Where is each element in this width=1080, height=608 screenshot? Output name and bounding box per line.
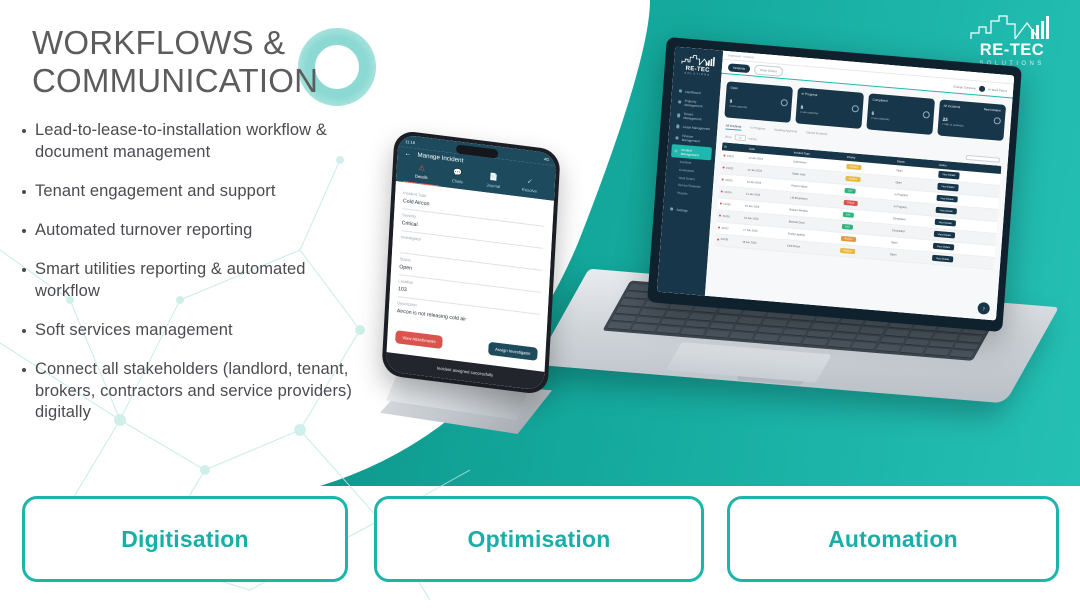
stat-card-title: Open <box>730 86 788 95</box>
search-input[interactable] <box>966 155 1000 163</box>
list-item-label: Lead-to-lease-to-installation workflow &… <box>35 120 367 164</box>
assign-investigator-button[interactable]: Assign Investigator <box>488 341 538 360</box>
dashboard-app: RE-TEC SOLUTIONS Dashboard Property Mana… <box>657 47 1014 321</box>
bullet-dot-icon <box>22 329 26 333</box>
stat-card-title: In Progress <box>801 92 859 101</box>
stat-card-title: Completed <box>872 98 930 107</box>
cell-date: 14 Jan 2023 <box>744 190 789 202</box>
cell-date: 15 Jan 2023 <box>743 202 788 214</box>
support-headset-icon[interactable] <box>979 85 985 92</box>
back-arrow-icon[interactable]: ← <box>404 150 411 158</box>
list-item: Soft services management <box>22 320 367 342</box>
phone-form: Incident Type Cold Aircon Severity Criti… <box>388 181 553 337</box>
status-badge: Low <box>844 188 856 194</box>
cell-status: Completed <box>890 214 932 225</box>
skyline-bar-chart-icon <box>969 14 1055 40</box>
cell-date: 12 Jan 2023 <box>746 154 791 166</box>
view-details-button[interactable]: View Details <box>934 219 956 227</box>
dashboard-logo: RE-TEC SOLUTIONS <box>677 53 719 77</box>
sidebar-item-label: Settings <box>676 207 687 212</box>
status-badge: Medium <box>846 164 862 171</box>
help-fab-button[interactable]: ? <box>977 302 990 315</box>
tab-label: Chats <box>452 178 463 184</box>
status-time: 11:18 <box>405 139 415 145</box>
cell-status: In Progress <box>892 190 934 201</box>
sidebar-item-label: Finance Management <box>682 134 710 144</box>
page-title: WORKFLOWS & COMMUNICATION <box>32 24 362 101</box>
users-icon <box>677 114 681 118</box>
view-details-button[interactable]: View Details <box>936 195 958 203</box>
change-company-link[interactable]: Change Company <box>953 84 976 90</box>
sidebar-item-label: Property Management <box>684 99 712 109</box>
tab-in-progress[interactable]: In Progress <box>750 126 765 133</box>
tab-closed-incidents[interactable]: Closed Incidents <box>806 130 828 138</box>
tab-awaiting-approval[interactable]: Awaiting Approval <box>774 128 797 136</box>
incidents-table: ID Date Incident Type Priority Status Ac… <box>715 142 1002 269</box>
tab-work-orders[interactable]: Work Orders <box>754 64 784 76</box>
cell-date: 16 Jan 2023 <box>742 214 787 226</box>
tab-label: Journal <box>486 182 500 189</box>
tab-label: Resolve <box>522 186 537 193</box>
cell-id: #1027 <box>721 226 728 230</box>
list-item: Tenant engagement and support <box>22 181 367 203</box>
status-badge: Medium <box>845 176 861 183</box>
laptop-mockup: RE-TEC SOLUTIONS Dashboard Property Mana… <box>537 52 1037 442</box>
status-badge: Medium <box>841 235 857 242</box>
show-label: Show <box>725 135 732 139</box>
cell-status: Open <box>888 250 930 261</box>
cell-status: Open <box>893 178 935 189</box>
bullet-dot-icon <box>22 368 26 372</box>
cell-id: #1022 <box>726 166 733 170</box>
grid-icon <box>679 89 683 93</box>
pill-label: Optimisation <box>468 526 611 553</box>
list-item: Automated turnover reporting <box>22 220 367 242</box>
cell-date: 18 Jan 2023 <box>740 238 785 250</box>
breadcrumb: Dashboard / Incidents <box>728 54 754 59</box>
pill-optimisation[interactable]: Optimisation <box>374 496 704 582</box>
status-badge: Low <box>841 223 853 229</box>
phone-device: 11:18 4G ← Manage Incident ⚠ Details <box>381 130 560 396</box>
stat-card-in-progress[interactable]: In Progress 8 2 new yesterday <box>795 87 864 129</box>
list-item-label: Smart utilities reporting & automated wo… <box>35 259 367 303</box>
list-item-label: Connect all stakeholders (landlord, tena… <box>35 359 367 425</box>
status-indicators: 4G <box>544 156 550 162</box>
cell-type: Cold Aircon <box>785 242 839 254</box>
sidebar-item-label: Incident Management <box>681 147 709 157</box>
dashboard-main: Dashboard / Incidents Incidents Work Ord… <box>705 51 1014 321</box>
cell-status: Open <box>889 238 931 249</box>
bullet-dot-icon <box>22 229 26 233</box>
cell-status: Completed <box>890 226 932 237</box>
bullet-dot-icon <box>22 268 26 272</box>
cell-id: #1021 <box>727 154 734 158</box>
tab-incidents[interactable]: Incidents <box>728 63 751 73</box>
sidebar-item-label: Tenant Management <box>683 112 711 122</box>
view-details-button[interactable]: View Details <box>934 231 956 239</box>
view-attachments-button[interactable]: View Attachments <box>395 330 443 349</box>
list-item-label: Automated turnover reporting <box>35 220 252 242</box>
view-details-button[interactable]: View Details <box>932 255 954 263</box>
stat-card-open[interactable]: Open 9 3 new yesterday <box>724 81 793 123</box>
list-item-label: Tenant engagement and support <box>35 181 276 203</box>
laptop-lid: RE-TEC SOLUTIONS Dashboard Property Mana… <box>647 37 1022 332</box>
cell-id: #1028 <box>721 238 728 242</box>
cell-id: #1025 <box>723 202 730 206</box>
document-icon <box>676 125 680 129</box>
status-badge: Critical <box>843 200 857 207</box>
phone-mockup: 11:18 4G ← Manage Incident ⚠ Details <box>380 140 580 460</box>
laptop-screen: RE-TEC SOLUTIONS Dashboard Property Mana… <box>657 47 1014 321</box>
sidebar-item-settings[interactable]: Settings <box>667 204 708 217</box>
pill-label: Digitisation <box>121 526 249 553</box>
cell-id: #1024 <box>724 190 731 194</box>
list-item: Smart utilities reporting & automated wo… <box>22 259 367 303</box>
cell-date: 12 Jan 2023 <box>745 166 790 178</box>
list-item-label: Soft services management <box>35 320 233 342</box>
list-item: Connect all stakeholders (landlord, tena… <box>22 359 367 425</box>
sidebar-item-label: Dashboard <box>685 89 700 94</box>
cell-date: 17 Jan 2023 <box>741 226 786 238</box>
view-details-button[interactable]: View Details <box>937 183 959 191</box>
entries-select[interactable]: 10 <box>734 134 745 141</box>
status-badge: Low <box>842 212 854 218</box>
sidebar-item-label: Lease Management <box>683 125 711 131</box>
pill-digitisation[interactable]: Digitisation <box>22 496 348 582</box>
pill-label: Automation <box>828 526 958 553</box>
cell-id: #1026 <box>722 214 729 218</box>
feature-bullet-list: Lead-to-lease-to-installation workflow &… <box>22 120 367 441</box>
wallet-icon <box>675 136 679 140</box>
building-icon <box>678 100 682 104</box>
phone-screen-title: Manage Incident <box>417 152 463 165</box>
view-details-button[interactable]: View Details <box>938 171 960 179</box>
tab-label: Details <box>415 173 428 180</box>
cell-id: #1023 <box>725 178 732 182</box>
list-item: Lead-to-lease-to-installation workflow &… <box>22 120 367 164</box>
phone-screen: 11:18 4G ← Manage Incident ⚠ Details <box>385 134 556 391</box>
alert-icon <box>674 149 678 153</box>
pill-automation[interactable]: Automation <box>727 496 1059 582</box>
bullet-dot-icon <box>22 129 26 133</box>
slide-root: WORKFLOWS & COMMUNICATION Lead-to-lease-… <box>0 0 1080 608</box>
cell-date: 13 Jan 2023 <box>744 178 789 190</box>
cell-status: Open <box>894 167 936 178</box>
status-badge: Medium <box>840 247 856 254</box>
tab-all-incidents[interactable]: All Incidents <box>725 123 741 130</box>
view-details-button[interactable]: View Details <box>935 207 957 215</box>
entries-label: entries <box>749 137 757 141</box>
stat-card-completed[interactable]: Completed 6 2 new yesterday <box>866 93 935 135</box>
user-menu[interactable]: Hi, Mark Peters <box>988 87 1008 93</box>
gear-icon <box>670 207 674 211</box>
view-details-button[interactable]: View Details <box>933 243 955 251</box>
cell-status: In Progress <box>891 202 933 213</box>
bullet-dot-icon <box>22 190 26 194</box>
pill-button-row: Digitisation Optimisation Automation <box>0 488 1080 608</box>
